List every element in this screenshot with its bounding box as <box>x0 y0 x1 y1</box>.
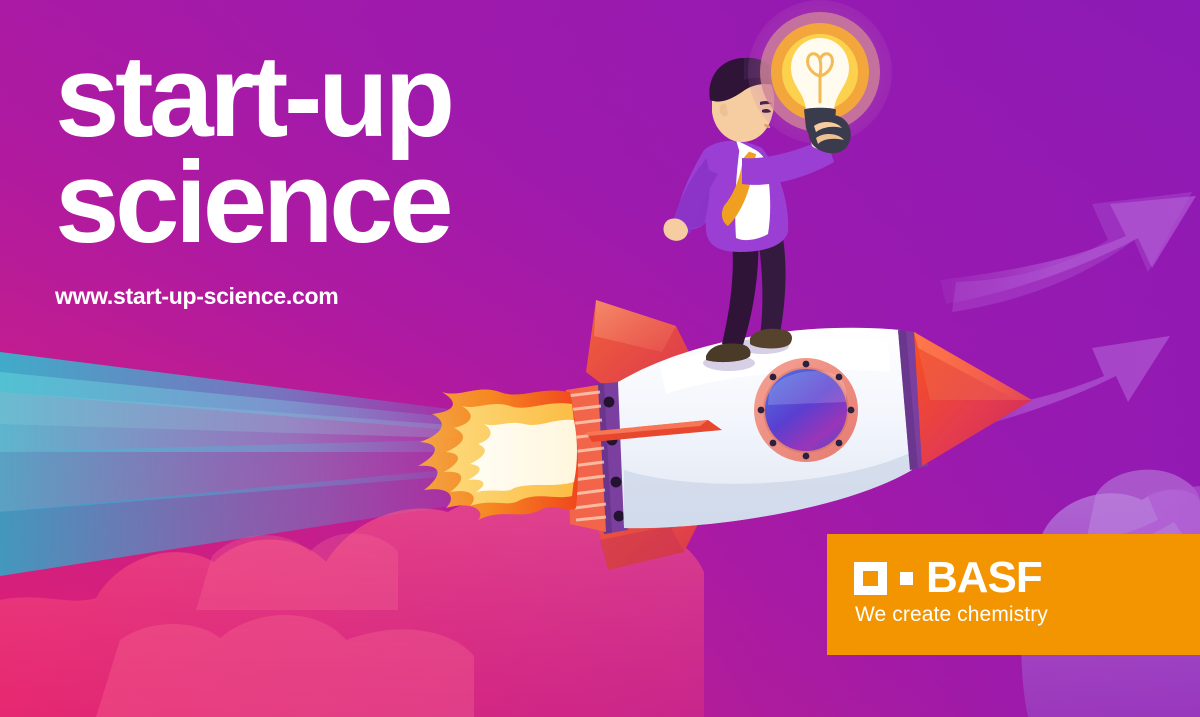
rivet <box>611 477 622 488</box>
cloud-shape-b <box>96 615 474 717</box>
basf-tagline: We create chemistry <box>855 603 1048 627</box>
headline-line-1: start-up <box>55 45 451 147</box>
basf-square-dot-icon <box>900 572 913 585</box>
basf-square-ring-icon <box>854 562 887 595</box>
rivet <box>604 397 615 408</box>
basf-wordmark: BASF <box>926 556 1042 600</box>
headline-line-2: science <box>55 151 451 253</box>
headline-block: start-up science www.start-up-science.co… <box>55 45 451 310</box>
poster-canvas: start-up science www.start-up-science.co… <box>0 0 1200 717</box>
rocket-porthole <box>754 358 858 462</box>
rivet <box>614 511 625 522</box>
basf-lockup: BASF <box>854 556 1042 600</box>
basf-logo-panel[interactable]: BASF We create chemistry <box>827 534 1200 655</box>
website-url[interactable]: www.start-up-science.com <box>55 283 451 310</box>
